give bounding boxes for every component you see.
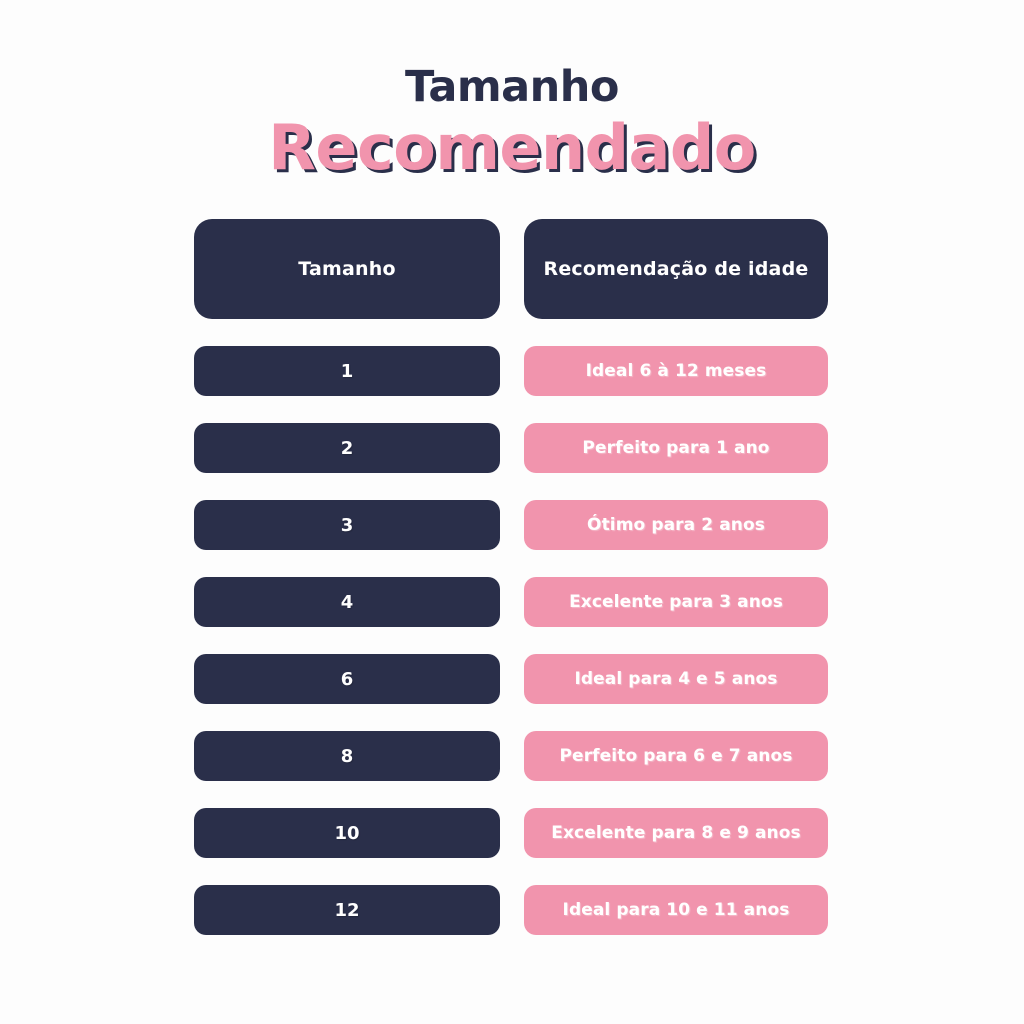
page-title: Tamanho Recomendado bbox=[0, 62, 1024, 182]
cell-size: 6 bbox=[194, 654, 500, 704]
age-value: Ideal para 10 e 11 anos bbox=[563, 900, 790, 920]
cell-size: 3 bbox=[194, 500, 500, 550]
size-value: 4 bbox=[341, 592, 354, 613]
title-primary: Tamanho bbox=[0, 62, 1024, 112]
age-value: Ótimo para 2 anos bbox=[587, 515, 765, 535]
size-value: 8 bbox=[341, 746, 354, 767]
age-value: Excelente para 8 e 9 anos bbox=[551, 823, 800, 843]
cell-size: 4 bbox=[194, 577, 500, 627]
title-secondary: Recomendado bbox=[0, 114, 1024, 182]
cell-size: 8 bbox=[194, 731, 500, 781]
cell-size: 10 bbox=[194, 808, 500, 858]
size-value: 1 bbox=[341, 361, 354, 382]
header-label-size: Tamanho bbox=[298, 258, 395, 280]
size-chart-page: Tamanho Recomendado Tamanho Recomendação… bbox=[0, 0, 1024, 1024]
size-value: 6 bbox=[341, 669, 354, 690]
size-value: 12 bbox=[334, 900, 359, 921]
age-value: Ideal 6 à 12 meses bbox=[586, 361, 767, 381]
size-value: 2 bbox=[341, 438, 354, 459]
table-row: 12 Ideal para 10 e 11 anos bbox=[194, 885, 828, 935]
size-value: 3 bbox=[341, 515, 354, 536]
age-value: Perfeito para 1 ano bbox=[582, 438, 769, 458]
table-row: 4 Excelente para 3 anos bbox=[194, 577, 828, 627]
cell-age: Perfeito para 1 ano bbox=[524, 423, 828, 473]
cell-age: Ideal para 4 e 5 anos bbox=[524, 654, 828, 704]
cell-size: 2 bbox=[194, 423, 500, 473]
table-row: 1 Ideal 6 à 12 meses bbox=[194, 346, 828, 396]
age-value: Ideal para 4 e 5 anos bbox=[574, 669, 777, 689]
cell-age: Ideal para 10 e 11 anos bbox=[524, 885, 828, 935]
size-recommendation-table: Tamanho Recomendação de idade 1 Ideal 6 … bbox=[194, 219, 828, 935]
cell-age: Ótimo para 2 anos bbox=[524, 500, 828, 550]
cell-age: Ideal 6 à 12 meses bbox=[524, 346, 828, 396]
header-label-age: Recomendação de idade bbox=[544, 258, 809, 280]
age-value: Excelente para 3 anos bbox=[569, 592, 783, 612]
table-header-row: Tamanho Recomendação de idade bbox=[194, 219, 828, 319]
size-value: 10 bbox=[334, 823, 359, 844]
header-cell-age: Recomendação de idade bbox=[524, 219, 828, 319]
cell-size: 12 bbox=[194, 885, 500, 935]
cell-age: Excelente para 8 e 9 anos bbox=[524, 808, 828, 858]
cell-age: Perfeito para 6 e 7 anos bbox=[524, 731, 828, 781]
cell-size: 1 bbox=[194, 346, 500, 396]
table-row: 8 Perfeito para 6 e 7 anos bbox=[194, 731, 828, 781]
table-row: 2 Perfeito para 1 ano bbox=[194, 423, 828, 473]
table-row: 3 Ótimo para 2 anos bbox=[194, 500, 828, 550]
table-row: 10 Excelente para 8 e 9 anos bbox=[194, 808, 828, 858]
cell-age: Excelente para 3 anos bbox=[524, 577, 828, 627]
table-row: 6 Ideal para 4 e 5 anos bbox=[194, 654, 828, 704]
age-value: Perfeito para 6 e 7 anos bbox=[560, 746, 793, 766]
header-cell-size: Tamanho bbox=[194, 219, 500, 319]
